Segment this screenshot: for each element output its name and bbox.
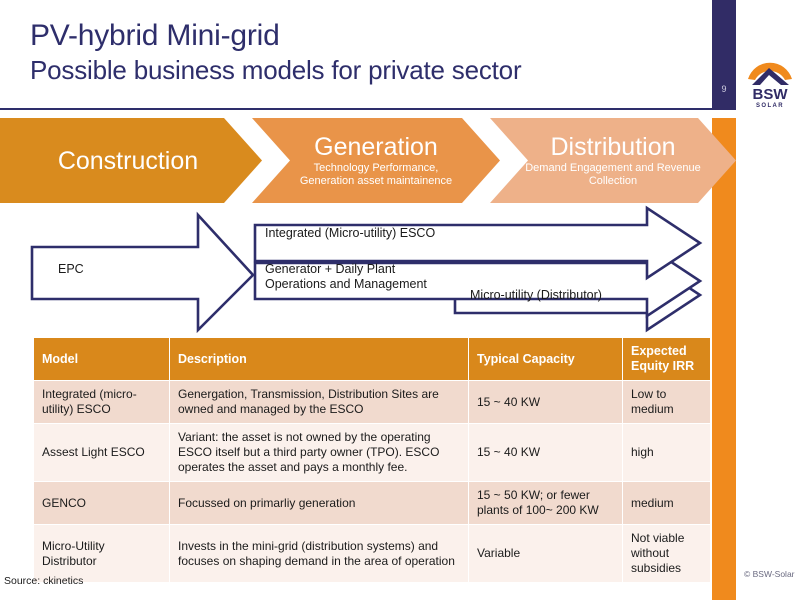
chevron-construction-title: Construction bbox=[58, 147, 198, 175]
table-row[interactable]: GENCO Focussed on primarliy generation 1… bbox=[34, 482, 711, 525]
cell-description: Invests in the mini-grid (distribution s… bbox=[170, 525, 469, 583]
chevron-generation-subtitle: Technology Performance, Generation asset… bbox=[286, 162, 466, 189]
cell-model: Assest Light ESCO bbox=[34, 424, 170, 482]
logo-wordmark: BSW bbox=[753, 86, 789, 103]
logo-tagline: SOLAR bbox=[756, 103, 784, 109]
cell-model: GENCO bbox=[34, 482, 170, 525]
table-row[interactable]: Integrated (micro-utility) ESCO Genergat… bbox=[34, 381, 711, 424]
chevron-distribution-title: Distribution bbox=[524, 133, 702, 161]
page-subtitle: Possible business models for private sec… bbox=[30, 54, 521, 87]
cell-description: Variant: the asset is not owned by the o… bbox=[170, 424, 469, 482]
arrow-label-generator: Generator + Daily Plant Operations and M… bbox=[265, 262, 455, 292]
column-header-description: Description bbox=[170, 338, 469, 381]
cell-capacity: 15 ~ 40 KW bbox=[469, 381, 623, 424]
cell-description: Focussed on primarliy generation bbox=[170, 482, 469, 525]
bsw-solar-logo-icon: BSW SOLAR bbox=[745, 55, 795, 110]
chevron-construction[interactable]: Construction bbox=[0, 118, 262, 203]
page-number: 9 bbox=[712, 84, 736, 94]
column-header-capacity: Typical Capacity bbox=[469, 338, 623, 381]
business-models-table: Model Description Typical Capacity Expec… bbox=[33, 337, 711, 583]
cell-irr: Not viable without subsidies bbox=[623, 525, 711, 583]
table-row[interactable]: Micro-Utility Distributor Invests in the… bbox=[34, 525, 711, 583]
chevron-distribution[interactable]: Distribution Demand Engagement and Reven… bbox=[490, 118, 736, 203]
header-divider bbox=[0, 108, 712, 110]
column-header-irr: Expected Equity IRR bbox=[623, 338, 711, 381]
title-block: PV-hybrid Mini-grid Possible business mo… bbox=[30, 18, 521, 87]
table-header-row: Model Description Typical Capacity Expec… bbox=[34, 338, 711, 381]
cell-irr: medium bbox=[623, 482, 711, 525]
cell-model: Integrated (micro-utility) ESCO bbox=[34, 381, 170, 424]
cell-capacity: Variable bbox=[469, 525, 623, 583]
table-row[interactable]: Assest Light ESCO Variant: the asset is … bbox=[34, 424, 711, 482]
arrow-label-integrated: Integrated (Micro-utility) ESCO bbox=[265, 226, 435, 241]
column-header-model: Model bbox=[34, 338, 170, 381]
arrow-label-epc: EPC bbox=[58, 262, 84, 277]
page-title: PV-hybrid Mini-grid bbox=[30, 18, 521, 54]
bsw-solar-logo: BSW SOLAR bbox=[745, 55, 795, 110]
value-chain-chevrons: Construction Generation Technology Perfo… bbox=[0, 118, 736, 203]
chevron-generation-title: Generation bbox=[286, 133, 466, 161]
cell-description: Genergation, Transmission, Distribution … bbox=[170, 381, 469, 424]
cell-capacity: 15 ~ 50 KW; or fewer plants of 100~ 200 … bbox=[469, 482, 623, 525]
chevron-distribution-subtitle: Demand Engagement and Revenue Collection bbox=[524, 162, 702, 189]
slide-header: PV-hybrid Mini-grid Possible business mo… bbox=[0, 0, 800, 110]
copyright-note: © BSW-Solar bbox=[744, 569, 795, 579]
chevron-generation[interactable]: Generation Technology Performance, Gener… bbox=[252, 118, 500, 203]
cell-model: Micro-Utility Distributor bbox=[34, 525, 170, 583]
source-note: Source: ckinetics bbox=[4, 575, 83, 587]
cell-capacity: 15 ~ 40 KW bbox=[469, 424, 623, 482]
cell-irr: Low to medium bbox=[623, 381, 711, 424]
cell-irr: high bbox=[623, 424, 711, 482]
arrow-label-microutility: Micro-utility (Distributor) bbox=[470, 288, 602, 303]
